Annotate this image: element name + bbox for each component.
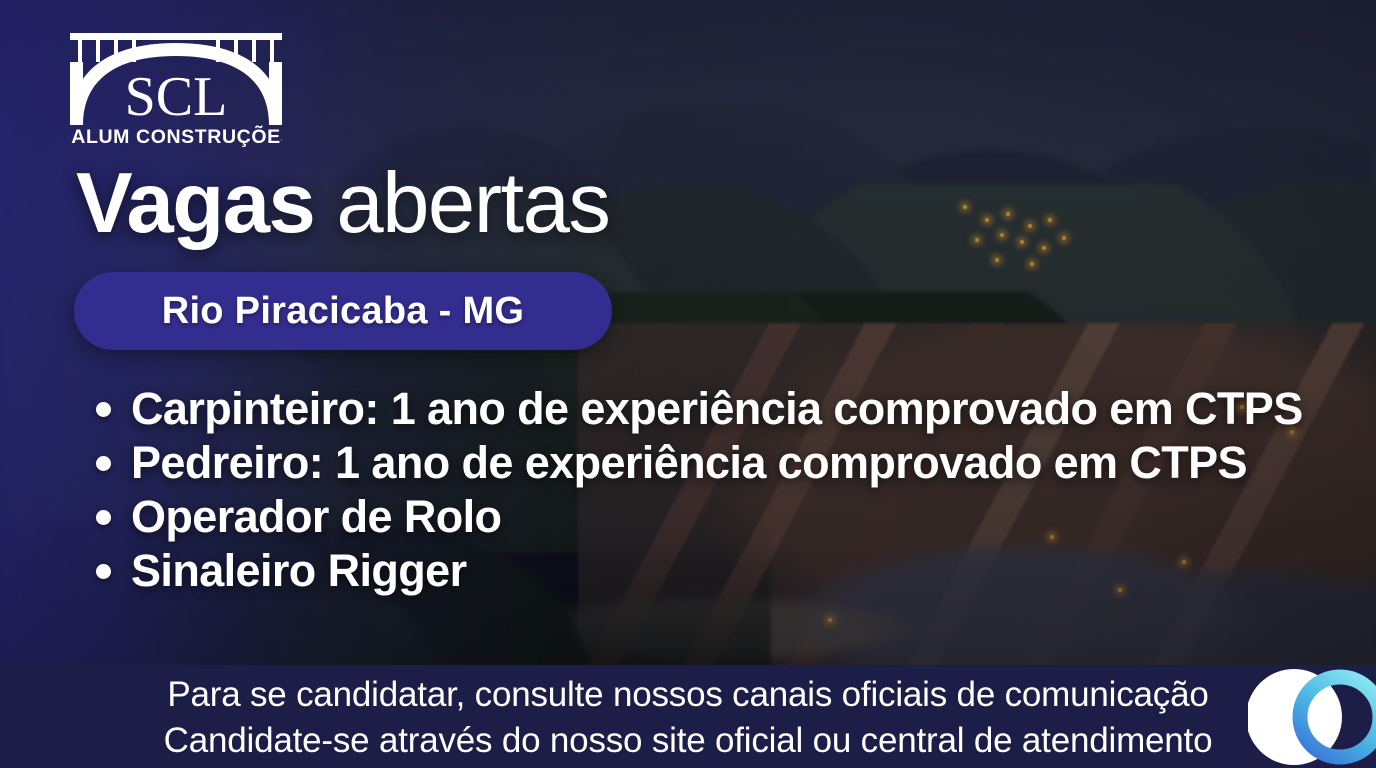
footer-text-block: Para se candidatar, consulte nossos cana… [0, 665, 1376, 768]
list-item: Pedreiro: 1 ano de experiência comprovad… [96, 436, 1326, 490]
job-title: Pedreiro: 1 ano de experiência comprovad… [131, 436, 1247, 490]
footer-logo-mark [1248, 665, 1376, 768]
logo-initials: SCL [125, 66, 228, 128]
list-item: Operador de Rolo [96, 490, 1326, 544]
page-title: Vagas abertas [76, 156, 609, 252]
bullet-icon [96, 402, 111, 417]
list-item: Sinaleiro Rigger [96, 544, 1326, 598]
bullet-icon [96, 510, 111, 525]
bullet-icon [96, 456, 111, 471]
bullet-icon [96, 564, 111, 579]
job-title: Sinaleiro Rigger [131, 544, 466, 598]
location-badge: Rio Piracicaba - MG [74, 272, 612, 350]
logo-company-name: SALUM CONSTRUÇÕES [70, 124, 282, 148]
job-list: Carpinteiro: 1 ano de experiência compro… [96, 382, 1326, 598]
poster-content: SCL SALUM CONSTRUÇÕES Vagas abertas Rio … [0, 0, 1376, 768]
job-title: Operador de Rolo [131, 490, 501, 544]
job-vacancy-poster: SCL SALUM CONSTRUÇÕES Vagas abertas Rio … [0, 0, 1376, 768]
footer-line-2: Candidate-se através do nosso site ofici… [164, 719, 1213, 763]
company-logo: SCL SALUM CONSTRUÇÕES [70, 33, 282, 148]
location-badge-label: Rio Piracicaba - MG [162, 290, 525, 333]
headline-light: abertas [336, 156, 609, 251]
footer-line-1: Para se candidatar, consulte nossos cana… [167, 673, 1208, 717]
footer-bar: Para se candidatar, consulte nossos cana… [0, 665, 1376, 768]
list-item: Carpinteiro: 1 ano de experiência compro… [96, 382, 1326, 436]
job-title: Carpinteiro: 1 ano de experiência compro… [131, 382, 1303, 436]
headline-strong: Vagas [76, 156, 314, 251]
